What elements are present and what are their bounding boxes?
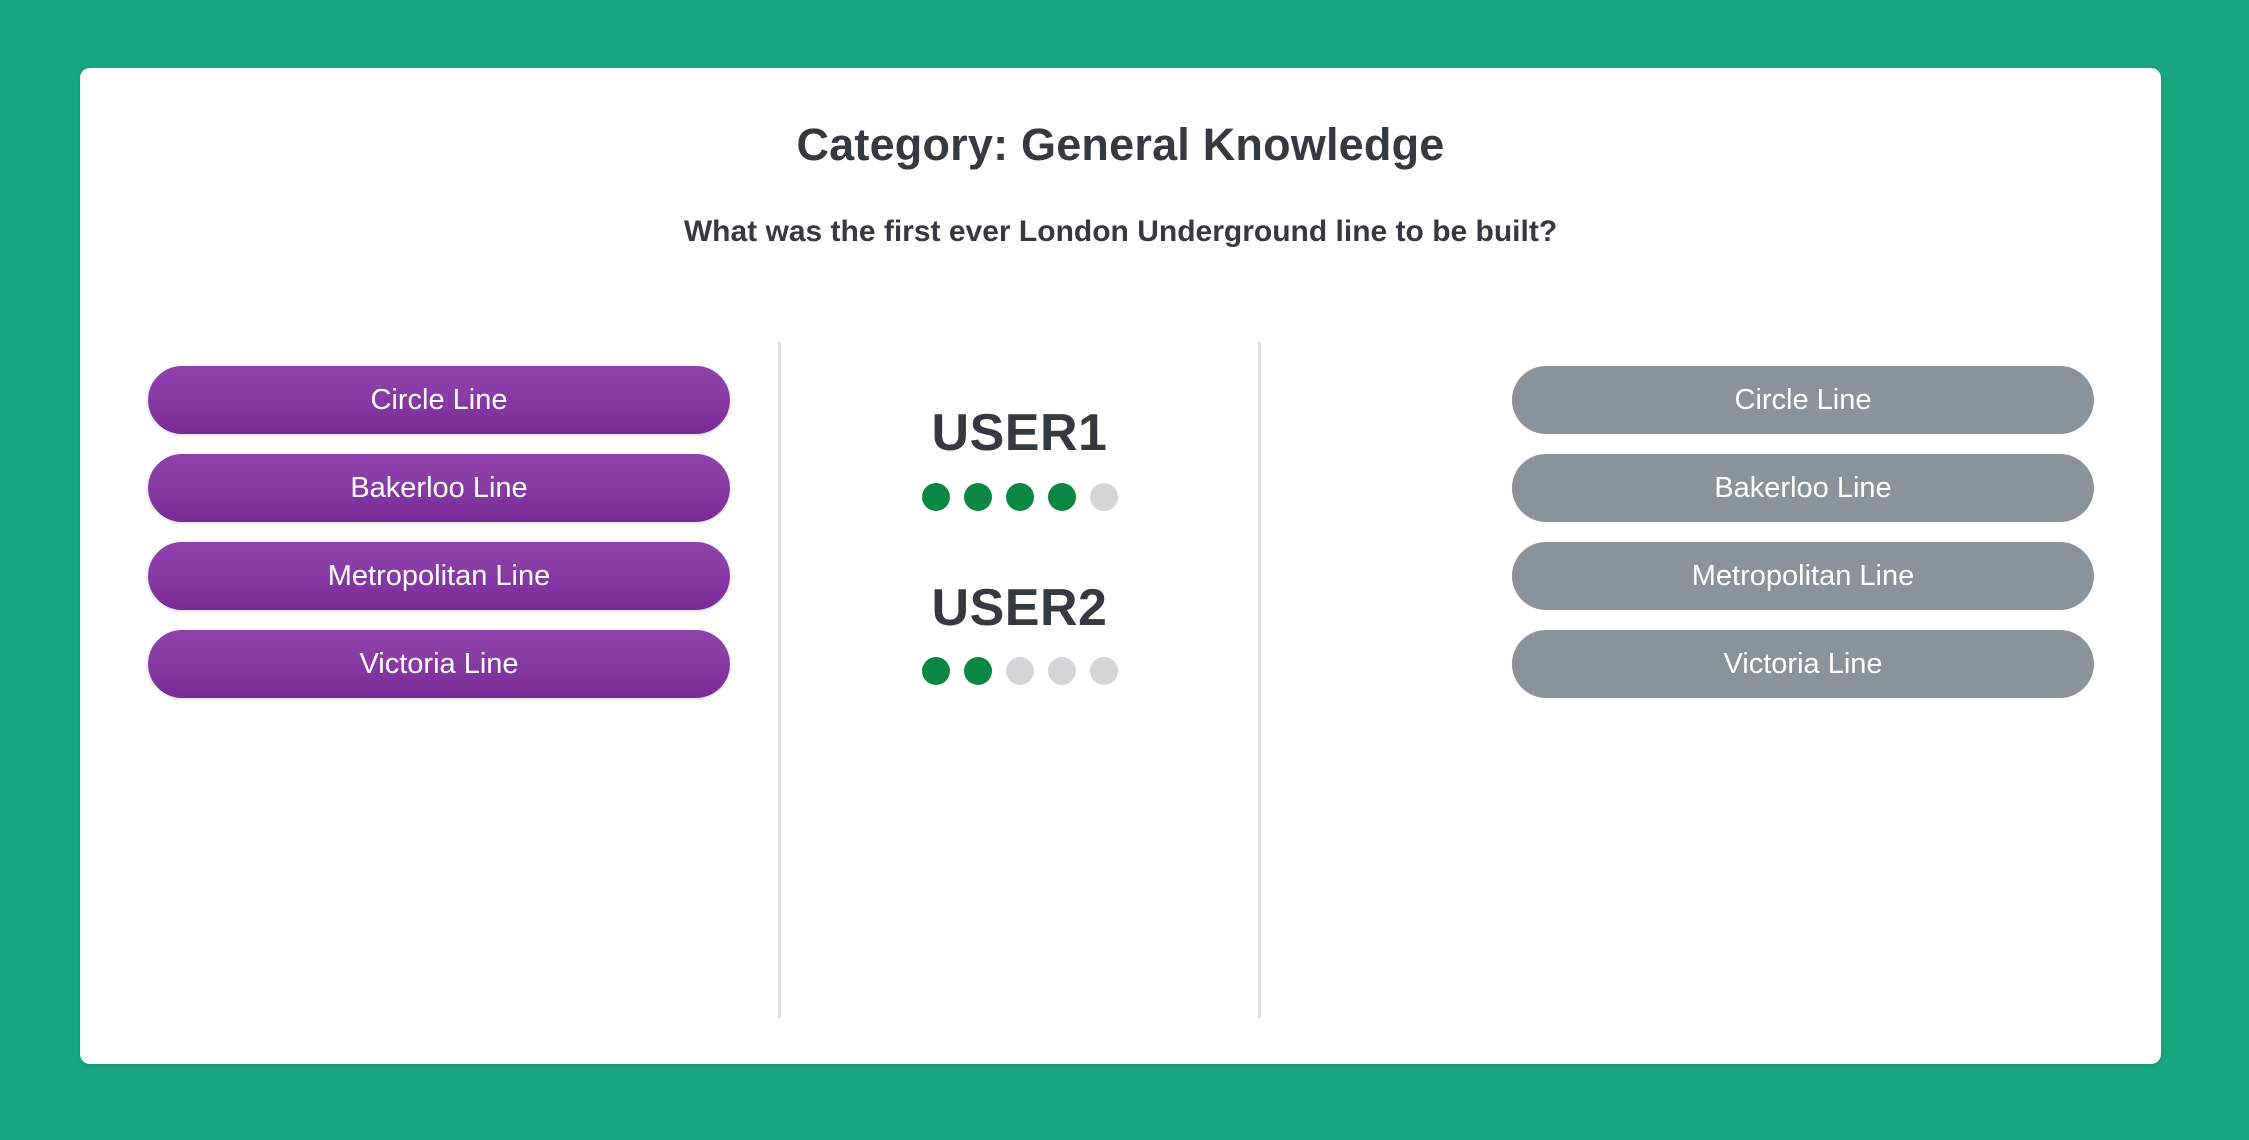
right-answer-button-3[interactable]: Metropolitan Line <box>1512 542 2094 610</box>
right-answer-button-2[interactable]: Bakerloo Line <box>1512 454 2094 522</box>
score-dot-empty <box>1090 483 1118 511</box>
user1-name: USER1 <box>932 406 1108 461</box>
score-dot-filled <box>922 657 950 685</box>
right-answer-list: Circle Line Bakerloo Line Metropolitan L… <box>1512 366 2094 698</box>
divider-right <box>1258 342 1261 1018</box>
right-answer-button-4[interactable]: Victoria Line <box>1512 630 2094 698</box>
quiz-card: Category: General Knowledge What was the… <box>80 68 2161 1064</box>
score-panel: USER1 USER2 <box>781 342 1258 1018</box>
user1-score-dots <box>922 483 1118 511</box>
user2-score-dots <box>922 657 1118 685</box>
score-dot-filled <box>922 483 950 511</box>
score-dot-empty <box>1006 657 1034 685</box>
user-score-block-1: USER1 <box>922 406 1118 511</box>
answer-columns: Circle Line Bakerloo Line Metropolitan L… <box>80 342 2161 1018</box>
left-answer-list: Circle Line Bakerloo Line Metropolitan L… <box>148 366 730 698</box>
user2-name: USER2 <box>932 581 1108 636</box>
score-dot-empty <box>1048 657 1076 685</box>
score-dot-filled <box>1048 483 1076 511</box>
left-answer-button-3[interactable]: Metropolitan Line <box>148 542 730 610</box>
score-dot-filled <box>964 657 992 685</box>
right-answer-button-1[interactable]: Circle Line <box>1512 366 2094 434</box>
question-text: What was the first ever London Undergrou… <box>80 214 2161 250</box>
card-header: Category: General Knowledge What was the… <box>80 68 2161 250</box>
score-dot-filled <box>1006 483 1034 511</box>
left-answer-button-1[interactable]: Circle Line <box>148 366 730 434</box>
left-answer-button-4[interactable]: Victoria Line <box>148 630 730 698</box>
score-dot-empty <box>1090 657 1118 685</box>
left-answer-button-2[interactable]: Bakerloo Line <box>148 454 730 522</box>
page-title: Category: General Knowledge <box>80 120 2161 170</box>
score-dot-filled <box>964 483 992 511</box>
user-score-block-2: USER2 <box>922 581 1118 686</box>
